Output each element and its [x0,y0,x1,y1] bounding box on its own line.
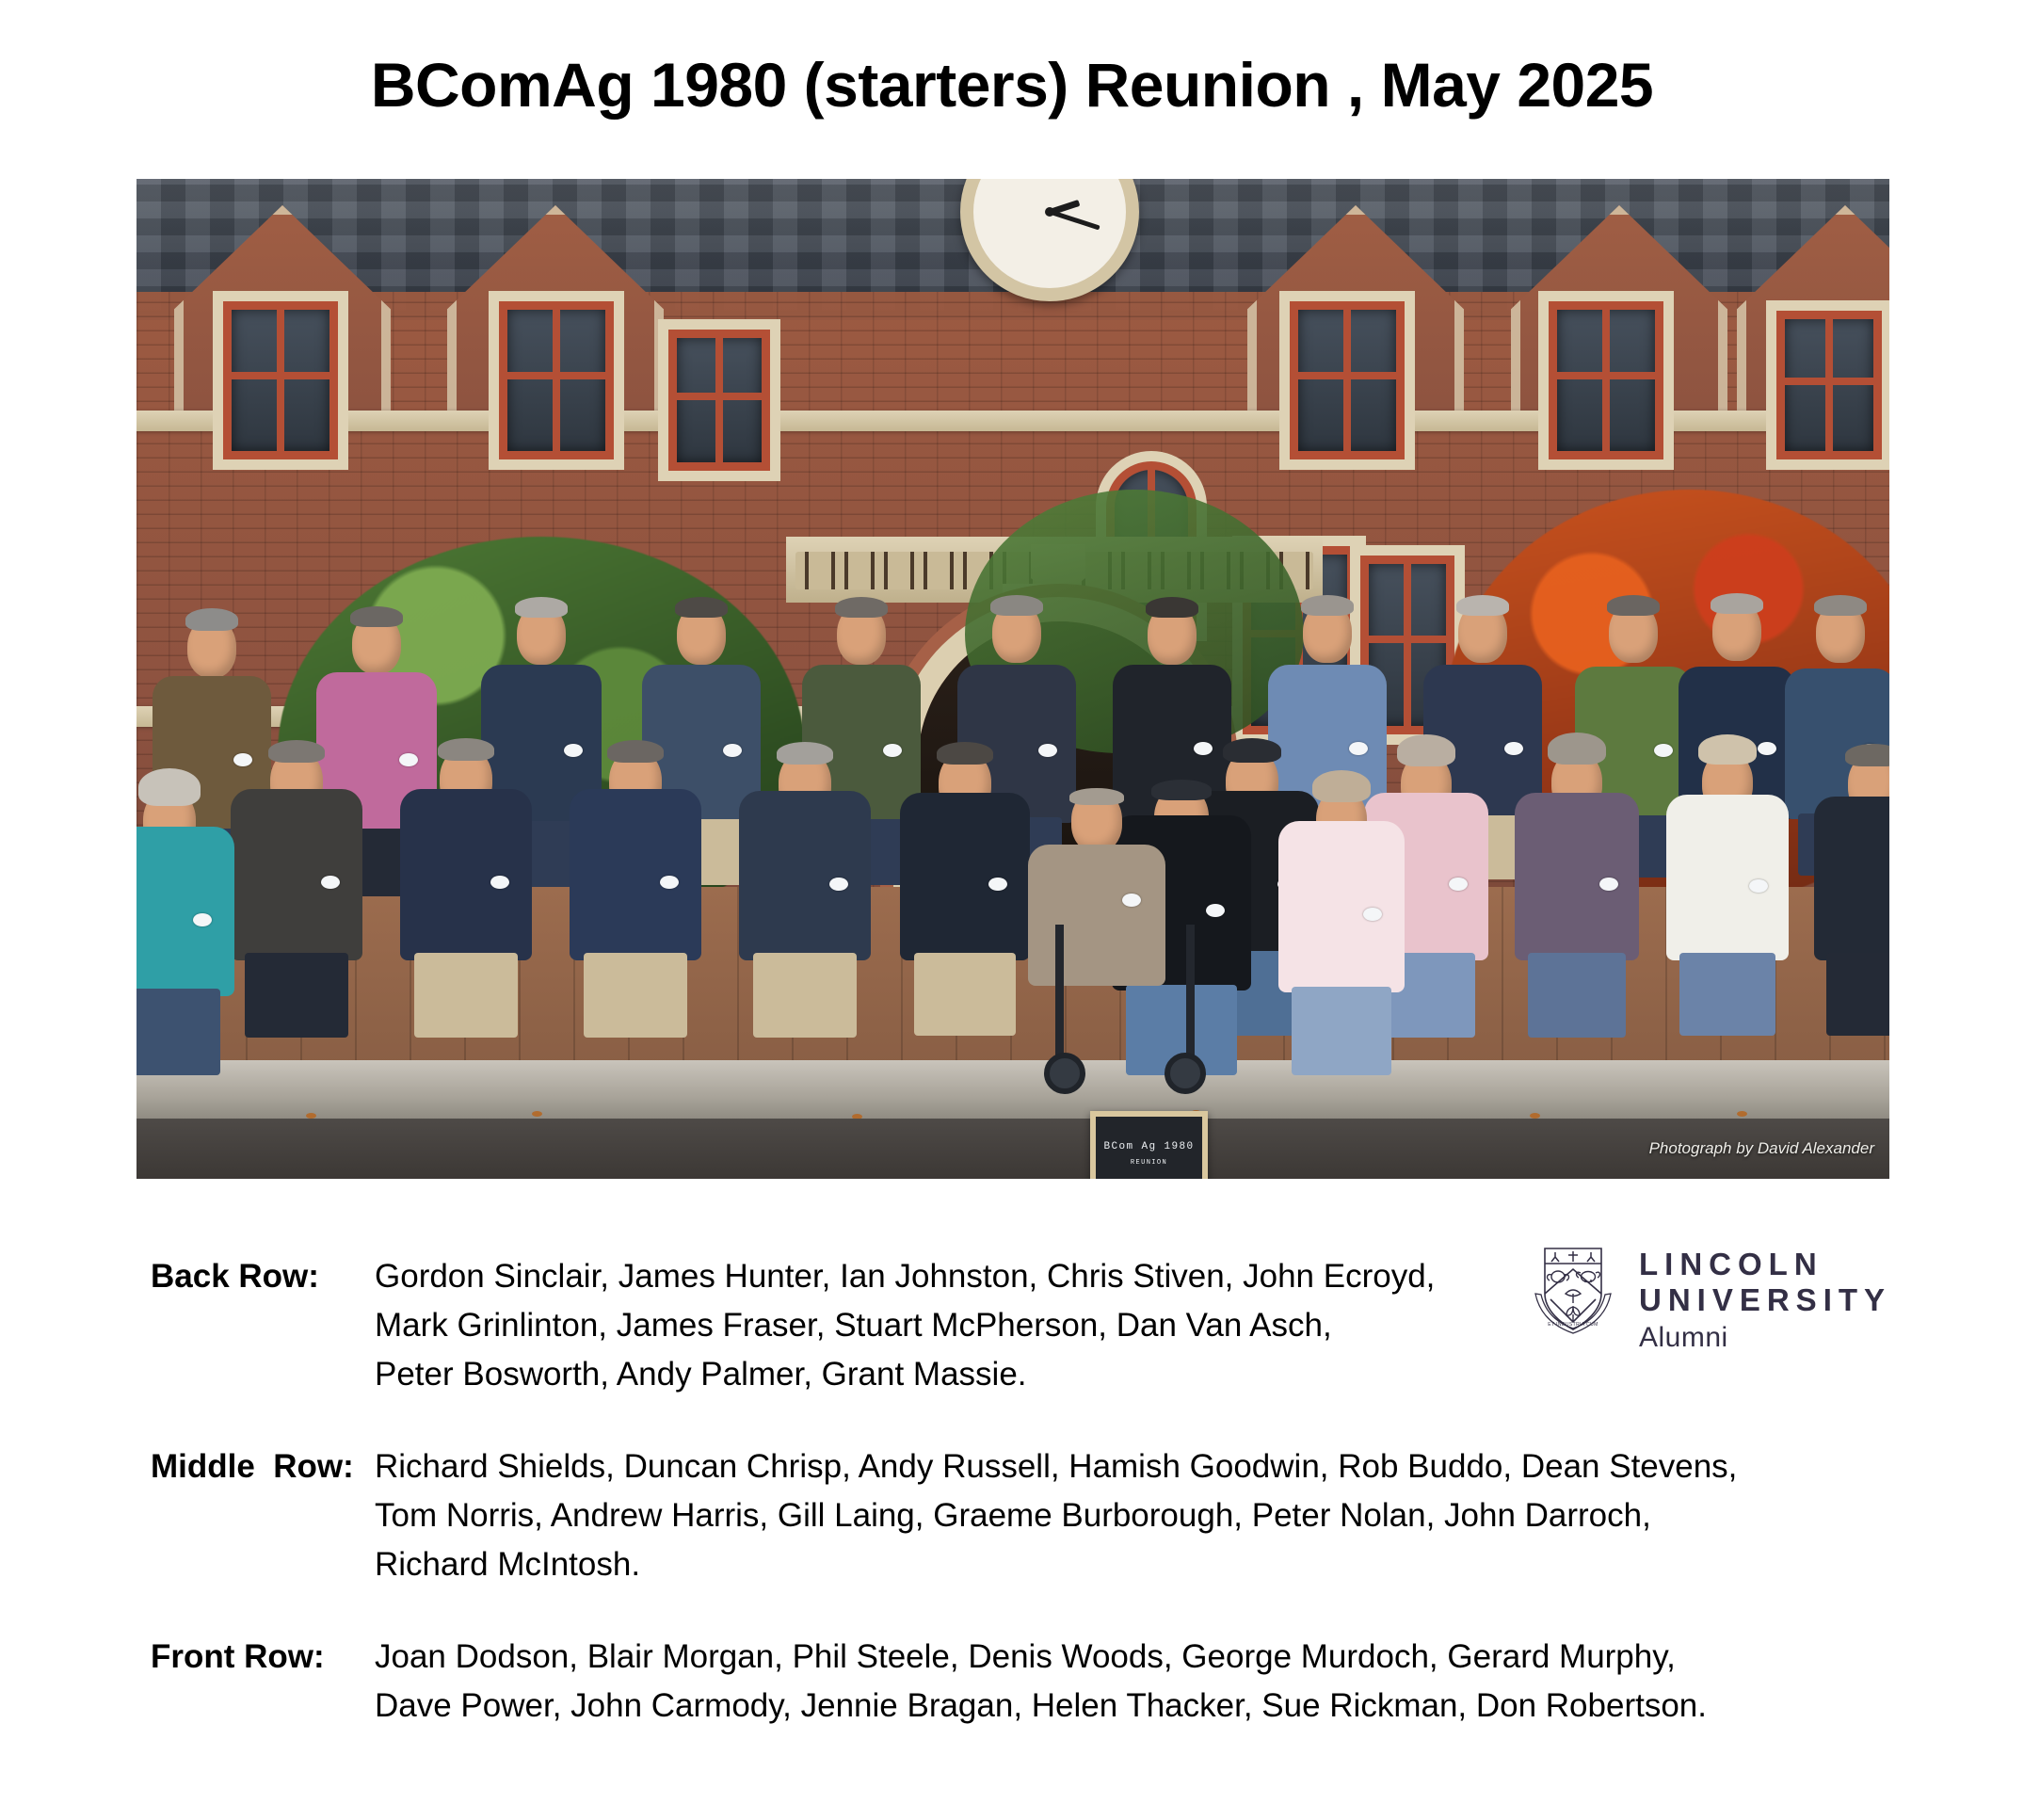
caption-line: Tom Norris, Andrew Harris, Gill Laing, G… [375,1491,1807,1540]
caption-line: Dave Power, John Carmody, Jennie Bragan,… [375,1682,1807,1731]
lincoln-university-alumni-logo: ET INDUSTRIA CUM LINCOLN UNIVERSITY Alum… [1530,1241,1906,1363]
caption-label-back: Back Row: [151,1252,375,1301]
caption-line: Richard McIntosh. [375,1540,1807,1589]
caption-names-front: Joan Dodson, Blair Morgan, Phil Steele, … [375,1633,1807,1731]
poster-page: BComAg 1980 (starters) Reunion , May 202… [0,0,2024,1820]
page-title: BComAg 1980 (starters) Reunion , May 202… [0,49,2024,121]
caption-label-middle: Middle Row: [151,1442,375,1491]
svg-text:ET INDUSTRIA CUM: ET INDUSTRIA CUM [1548,1322,1598,1328]
alumni-group [137,179,1889,1179]
logo-line-university: UNIVERSITY [1639,1282,1891,1318]
caption-line: Richard Shields, Duncan Chrisp, Andy Rus… [375,1442,1807,1491]
group-photograph: BCom Ag 1980 REUNION MAY 2025 LINCOLN UN… [137,179,1889,1179]
wheelchair [1040,906,1210,1094]
reunion-placard: BCom Ag 1980 REUNION MAY 2025 LINCOLN UN… [1090,1111,1208,1179]
placard-line-2: REUNION [1131,1159,1167,1167]
wheelchair-wheel [1165,1053,1206,1094]
caption-row-middle: Middle Row: Richard Shields, Duncan Chri… [151,1442,1807,1589]
caption-names-middle: Richard Shields, Duncan Chrisp, Andy Rus… [375,1442,1807,1589]
caption-row-front: Front Row: Joan Dodson, Blair Morgan, Ph… [151,1633,1807,1731]
wheelchair-wheel [1044,1053,1085,1094]
photo-credit: Photograph by David Alexander [1649,1139,1874,1158]
logo-wordmark: LINCOLN UNIVERSITY Alumni [1639,1241,1891,1356]
placard-line-1: BCom Ag 1980 [1103,1141,1194,1152]
wheelchair-frame [1055,925,1195,1056]
logo-line-alumni: Alumni [1639,1320,1891,1356]
lincoln-crest-icon: ET INDUSTRIA CUM [1530,1241,1616,1339]
caption-label-front: Front Row: [151,1633,375,1682]
logo-line-lincoln: LINCOLN [1639,1247,1891,1282]
caption-line: Joan Dodson, Blair Morgan, Phil Steele, … [375,1633,1807,1682]
